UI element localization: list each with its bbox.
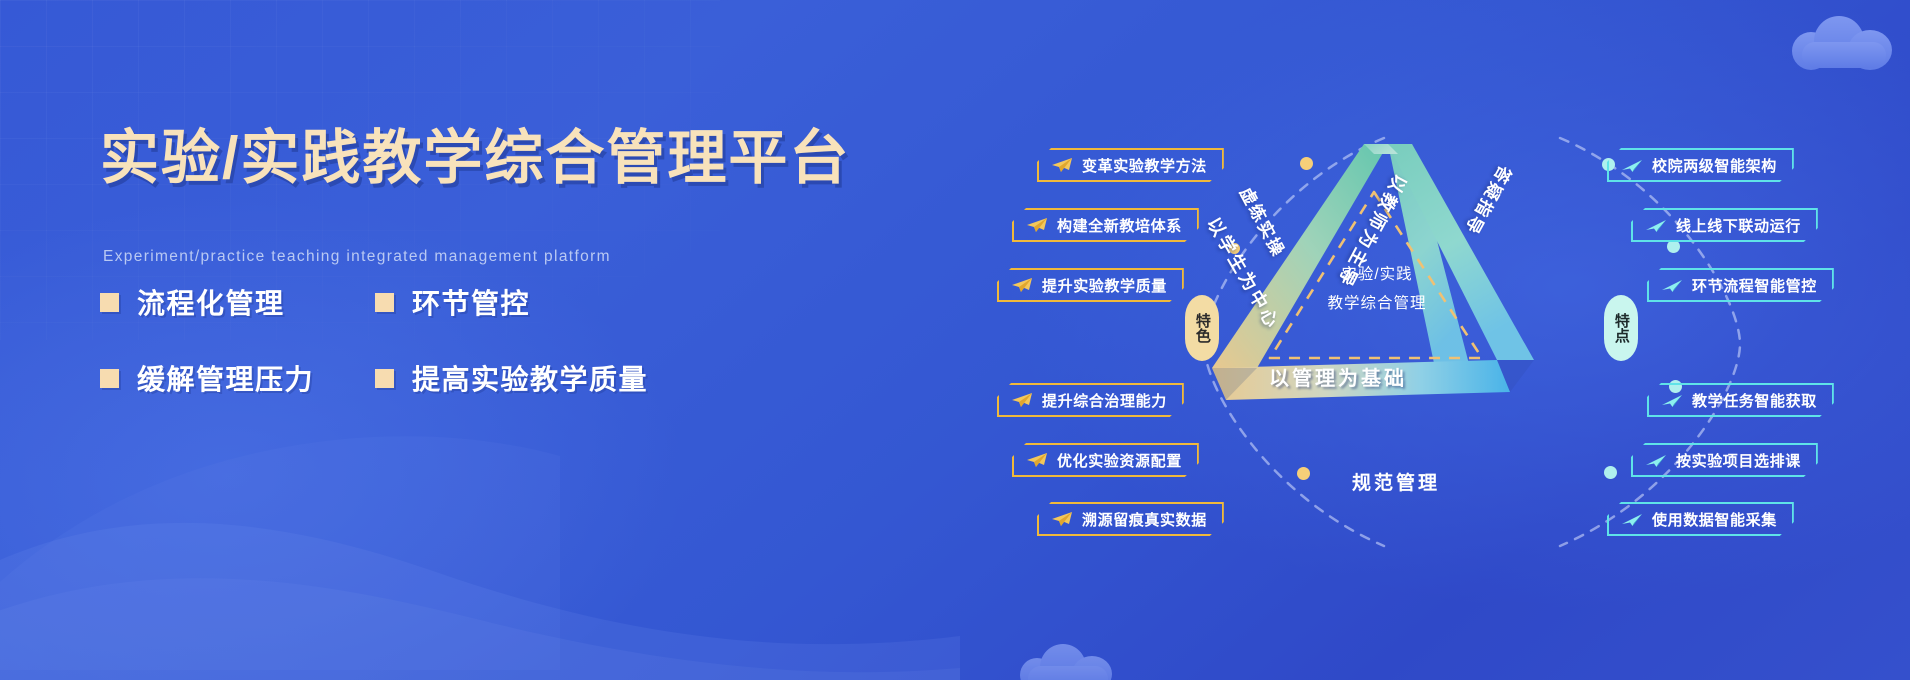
paper-plane-icon — [1621, 157, 1643, 173]
right-tag-label: 按实验项目选排课 — [1676, 450, 1801, 471]
background-wave-lower — [0, 430, 960, 680]
page-subtitle: Experiment/practice teaching integrated … — [103, 248, 611, 266]
right-tag-5[interactable]: 按实验项目选排课 — [1631, 443, 1818, 477]
right-tag-1[interactable]: 校院两级智能架构 — [1607, 148, 1794, 182]
bullet-square-icon — [375, 293, 394, 312]
paper-plane-icon — [1026, 217, 1048, 233]
paper-plane-icon — [1645, 217, 1667, 233]
badge-tedian: 特点 — [1604, 295, 1638, 361]
paper-plane-icon — [1645, 452, 1667, 468]
paper-plane-icon — [1621, 511, 1643, 527]
right-tag-label: 教学任务智能获取 — [1692, 390, 1817, 411]
orbit-node-cyan-4 — [1604, 466, 1617, 479]
right-tag-label: 环节流程智能管控 — [1692, 275, 1817, 296]
cloud-icon-bottom — [1020, 644, 1116, 680]
triangle-center-line-2: 教学综合管理 — [1302, 289, 1452, 318]
triangle-diagram: 以学生为中心 以教师为主导 以管理为基础 实验/实践 教学综合管理 — [1152, 130, 1592, 430]
page-title: 实验/实践教学综合管理平台 — [100, 124, 850, 194]
feature-bullet-list: 流程化管理 环节管控 缓解管理压力 提高实验教学质量 — [100, 282, 740, 398]
paper-plane-icon — [1051, 511, 1073, 527]
paper-plane-icon — [1011, 392, 1033, 408]
left-tag-5[interactable]: 优化实验资源配置 — [1012, 443, 1199, 477]
left-tag-6[interactable]: 溯源留痕真实数据 — [1037, 502, 1224, 536]
diagram-caption: 规范管理 — [1352, 468, 1440, 495]
paper-plane-icon — [1026, 452, 1048, 468]
left-tag-label: 构建全新教培体系 — [1057, 215, 1182, 236]
right-tag-6[interactable]: 使用数据智能采集 — [1607, 502, 1794, 536]
feature-bullet-2: 环节管控 — [375, 282, 740, 322]
feature-bullet-label: 提高实验教学质量 — [412, 358, 648, 398]
feature-bullet-3: 缓解管理压力 — [100, 358, 375, 398]
triangle-center-text: 实验/实践 教学综合管理 — [1302, 260, 1452, 319]
right-tag-3[interactable]: 环节流程智能管控 — [1647, 268, 1834, 302]
right-tag-4[interactable]: 教学任务智能获取 — [1647, 383, 1834, 417]
paper-plane-icon — [1661, 277, 1683, 293]
right-tag-label: 使用数据智能采集 — [1652, 509, 1777, 530]
right-tag-label: 线上线下联动运行 — [1676, 215, 1801, 236]
paper-plane-icon — [1051, 157, 1073, 173]
left-tag-label: 提升实验教学质量 — [1042, 275, 1167, 296]
feature-bullet-4: 提高实验教学质量 — [375, 358, 740, 398]
hero-banner: 实验/实践教学综合管理平台 Experiment/practice teachi… — [0, 0, 1910, 680]
feature-bullet-1: 流程化管理 — [100, 282, 375, 322]
left-tag-label: 提升综合治理能力 — [1042, 390, 1167, 411]
feature-bullet-label: 环节管控 — [412, 282, 530, 322]
bullet-square-icon — [100, 293, 119, 312]
cloud-icon-top-right — [1792, 16, 1896, 68]
triangle-center-line-1: 实验/实践 — [1302, 260, 1452, 289]
right-tag-2[interactable]: 线上线下联动运行 — [1631, 208, 1818, 242]
bullet-square-icon — [375, 369, 394, 388]
orbit-node-gold-4 — [1297, 467, 1310, 480]
bullet-square-icon — [100, 369, 119, 388]
feature-bullet-label: 缓解管理压力 — [137, 358, 314, 398]
left-tag-label: 优化实验资源配置 — [1057, 450, 1182, 471]
left-tag-label: 变革实验教学方法 — [1082, 155, 1207, 176]
right-tag-label: 校院两级智能架构 — [1652, 155, 1777, 176]
triangle-base-label: 以管理为基础 — [1269, 362, 1407, 391]
paper-plane-icon — [1661, 392, 1683, 408]
paper-plane-icon — [1011, 277, 1033, 293]
feature-bullet-label: 流程化管理 — [137, 282, 285, 322]
left-tag-label: 溯源留痕真实数据 — [1082, 509, 1207, 530]
